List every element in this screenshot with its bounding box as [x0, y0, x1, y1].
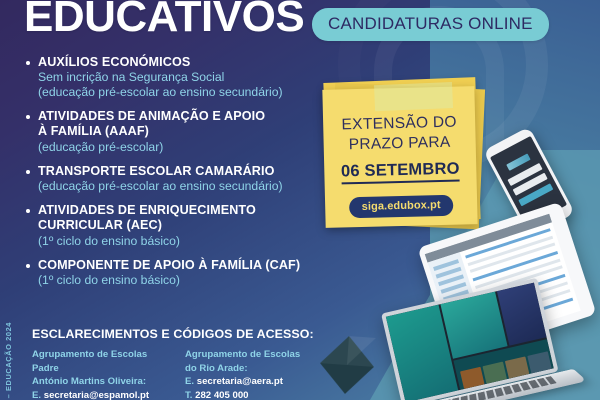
list-item-title-2: CURRICULAR (AEC)	[38, 218, 314, 233]
sticky-note-content: EXTENSÃO DO PRAZO PARA 06 SETEMBRO siga.…	[323, 112, 477, 218]
contact-org-line1: Agrupamento de Escolas Padre	[32, 348, 169, 375]
bullet-dot-icon	[26, 209, 30, 213]
laptop-mockup	[381, 273, 583, 400]
octahedron-shape-lower	[318, 334, 376, 396]
services-list: AUXÍLIOS ECONÓMICOS Sem incrição na Segu…	[24, 55, 314, 297]
contact-block: Agrupamento de Escolas Padre António Mar…	[32, 348, 169, 400]
sticky-note-front: EXTENSÃO DO PRAZO PARA 06 SETEMBRO siga.…	[322, 86, 477, 228]
sticky-note: EXTENSÃO DO PRAZO PARA 06 SETEMBRO siga.…	[320, 76, 488, 234]
page-title: EDUCATIVOS	[24, 0, 304, 40]
list-item-subtitle-2: (educação pré-escolar ao ensino secundár…	[38, 85, 314, 100]
list-item-title: ATIVIDADES DE ANIMAÇÃO E APOIO	[38, 109, 314, 124]
bullet-dot-icon	[26, 264, 30, 268]
phone-value[interactable]: 282 405 000	[195, 390, 248, 400]
tape-strip-icon	[374, 82, 453, 111]
vertical-side-caption: – EDUCAÇÃO 2024	[4, 322, 13, 398]
email-prefix-label: E.	[185, 376, 194, 387]
list-item-title-2: À FAMÍLIA (AAAF)	[38, 124, 314, 139]
list-item-subtitle: Sem incrição na Segurança Social	[38, 70, 314, 85]
bullet-dot-icon	[26, 170, 30, 174]
list-item-title: ATIVIDADES DE ENRIQUECIMENTO	[38, 203, 314, 218]
website-link-button[interactable]: siga.edubox.pt	[349, 194, 453, 218]
laptop-center-panel	[440, 292, 507, 359]
list-item-title: COMPONENTE DE APOIO À FAMÍLIA (CAF)	[38, 258, 314, 273]
list-item: ATIVIDADES DE ANIMAÇÃO E APOIO À FAMÍLIA…	[24, 109, 314, 155]
contact-org-line2: António Martins Oliveira:	[32, 375, 169, 389]
email-value[interactable]: secretaria@aera.pt	[197, 376, 283, 387]
bullet-dot-icon	[26, 61, 30, 65]
poster-canvas: EDUCATIVOS CANDIDATURAS ONLINE AUXÍLIOS …	[0, 0, 600, 400]
list-item-subtitle: (1º ciclo do ensino básico)	[38, 234, 314, 249]
list-item: COMPONENTE DE APOIO À FAMÍLIA (CAF) (1º …	[24, 258, 314, 288]
contact-org-line2: do Rio Arade:	[185, 362, 322, 376]
note-line-1: EXTENSÃO DO	[323, 112, 475, 136]
contact-block: Agrupamento de Escolas do Rio Arade: E. …	[185, 348, 322, 400]
list-item: ATIVIDADES DE ENRIQUECIMENTO CURRICULAR …	[24, 203, 314, 249]
note-deadline-date: 06 SETEMBRO	[341, 159, 460, 184]
footer-heading: ESCLARECIMENTOS E CÓDIGOS DE ACESSO:	[32, 327, 314, 341]
bullet-dot-icon	[26, 115, 30, 119]
contacts-group: Agrupamento de Escolas Padre António Mar…	[32, 348, 322, 400]
contact-email-row: E. secretaria@aera.pt	[185, 375, 322, 389]
contact-phone-row: T. 282 405 000	[185, 389, 322, 400]
list-item-subtitle: (educação pré-escolar)	[38, 140, 314, 155]
list-item: TRANSPORTE ESCOLAR CAMARÁRIO (educação p…	[24, 164, 314, 194]
list-item-title: AUXÍLIOS ECONÓMICOS	[38, 55, 314, 70]
list-item-subtitle: (educação pré-escolar ao ensino secundár…	[38, 179, 314, 194]
list-item-subtitle: (1º ciclo do ensino básico)	[38, 273, 314, 288]
list-item: AUXÍLIOS ECONÓMICOS Sem incrição na Segu…	[24, 55, 314, 100]
contact-email-row: E. secretaria@espamol.pt	[32, 389, 169, 400]
list-item-title: TRANSPORTE ESCOLAR CAMARÁRIO	[38, 164, 314, 179]
contact-org-line1: Agrupamento de Escolas	[185, 348, 322, 362]
email-prefix-label: E.	[32, 390, 41, 400]
email-value[interactable]: secretaria@espamol.pt	[44, 390, 149, 400]
phone-prefix-label: T.	[185, 390, 192, 400]
status-badge: CANDIDATURAS ONLINE	[312, 8, 549, 41]
